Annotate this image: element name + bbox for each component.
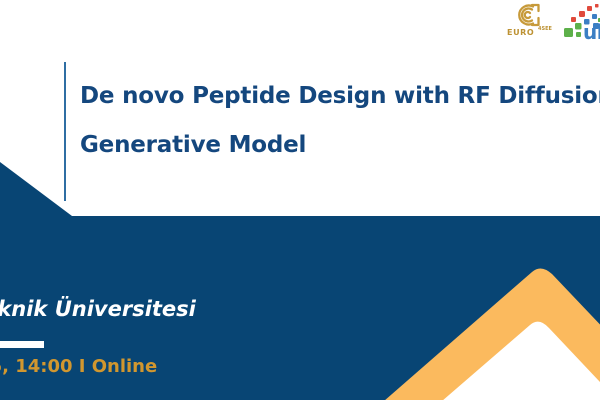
ul-wordmark: ul xyxy=(583,20,600,44)
speaker-info: aday ul Teknik Üniversitesi xyxy=(0,268,362,324)
white-divider-bar xyxy=(0,341,44,348)
logo-group: EURO 4SEE xyxy=(504,2,600,44)
speaker-affiliation: ul Teknik Üniversitesi xyxy=(0,294,362,324)
euro-logo: EURO 4SEE xyxy=(504,2,550,42)
poster-canvas: De novo Peptide Design with RF Diffusion… xyxy=(0,0,600,400)
page-title: De novo Peptide Design with RF Diffusion… xyxy=(80,72,600,170)
euro-superscript: 4SEE xyxy=(538,26,552,32)
event-datetime: 2025, 14:00 I Online xyxy=(0,356,157,377)
title-line-1: De novo Peptide Design with RF Diffusion… xyxy=(80,72,600,121)
speaker-name: aday xyxy=(0,268,362,294)
ul-logo: ul xyxy=(562,2,600,44)
euro-wordmark: EURO xyxy=(507,28,534,37)
euro-c-logo-icon xyxy=(513,2,541,28)
title-line-2: Generative Model xyxy=(80,121,600,170)
title-vertical-rule xyxy=(64,62,66,201)
